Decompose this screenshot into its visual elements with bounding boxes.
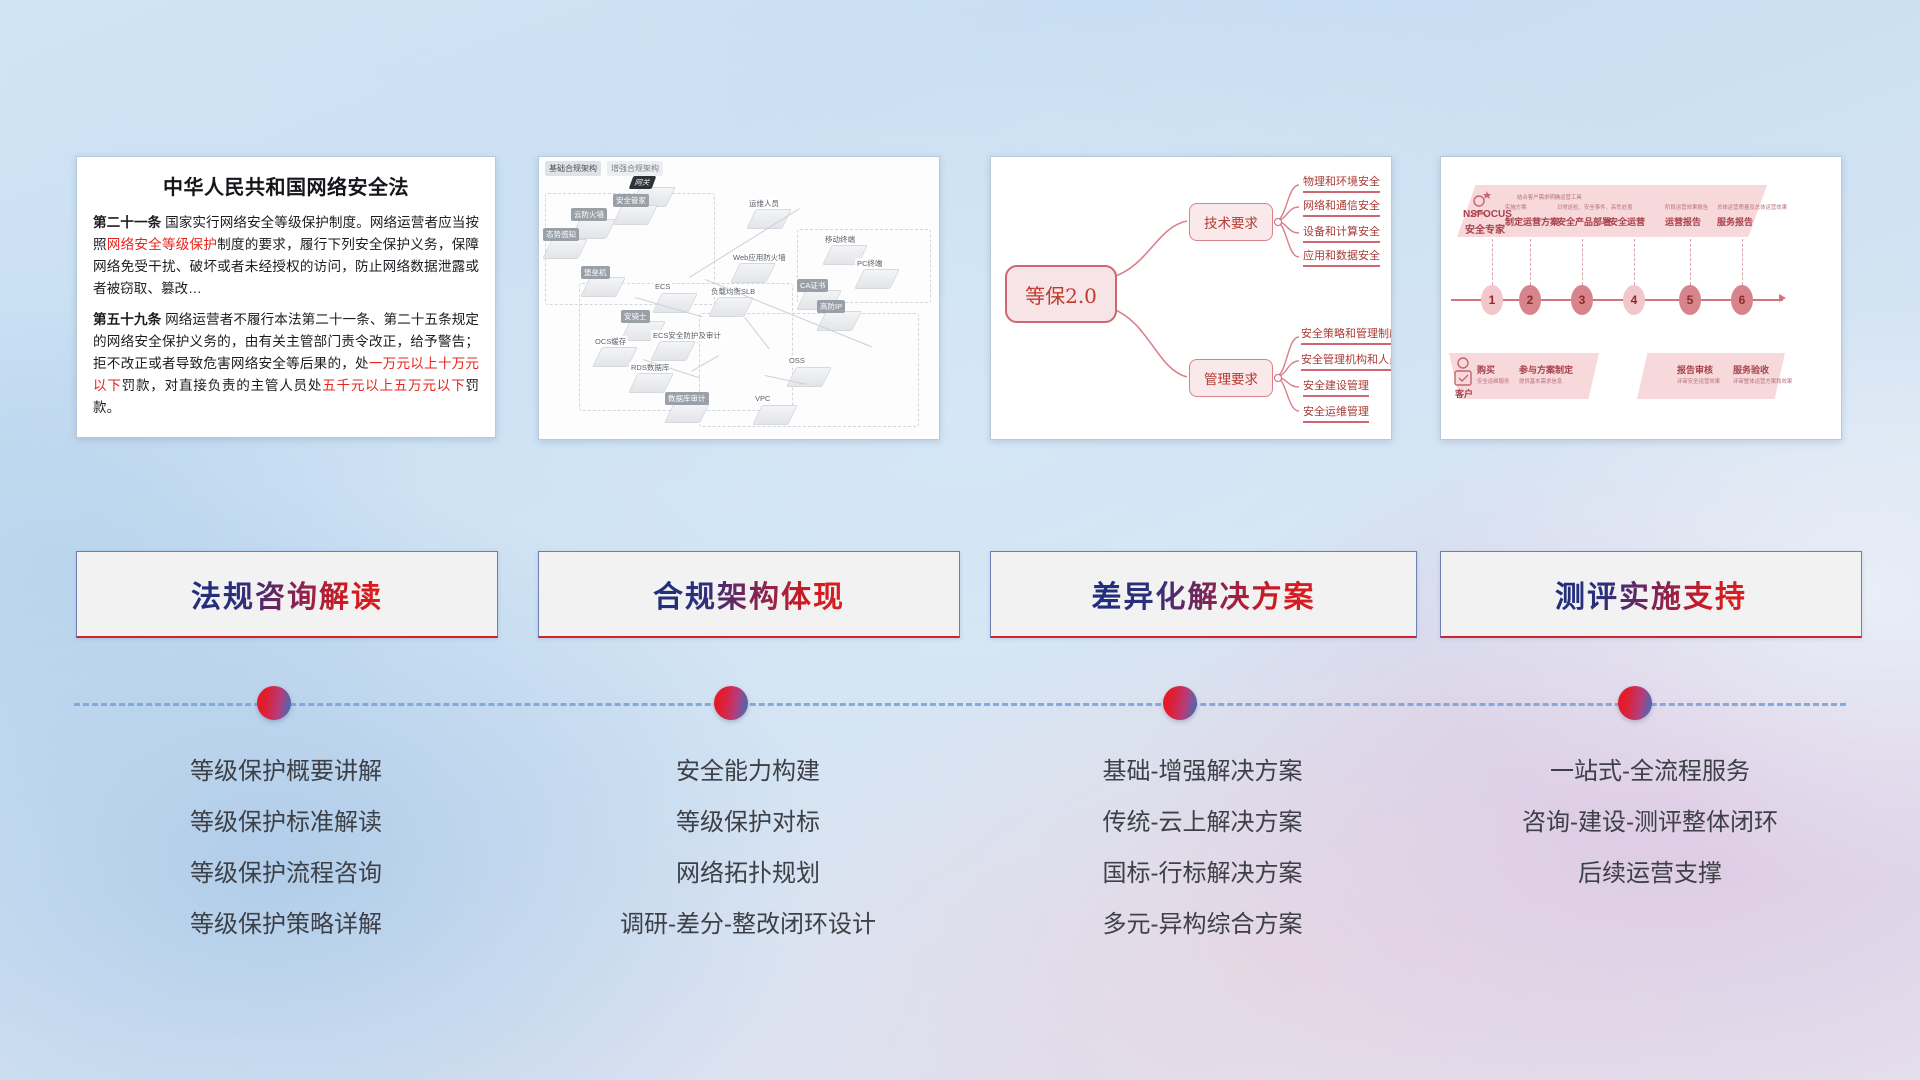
law-paragraph-1: 第二十一条 国家实行网络安全等级保护制度。网络运营者应当按照网络安全等级保护制度… xyxy=(93,212,479,300)
thumbnail-card-mindmap[interactable]: 等保2.0 技术要求 管理要求 物理和环境安全 网络和通信安全 设备和计算安全 … xyxy=(990,156,1392,440)
feature-list-item: 等级保护流程咨询 xyxy=(76,848,496,899)
timeline-customer-step-title: 报告审核 xyxy=(1677,363,1713,376)
law-title: 中华人民共和国网络安全法 xyxy=(93,171,479,200)
law-text-run: 五千元以上五万元以下 xyxy=(322,378,465,393)
timeline-customer-step-title: 参与方案制定 xyxy=(1519,363,1573,376)
architecture-node-shape xyxy=(752,405,798,425)
architecture-node-label: 安全管家 xyxy=(613,194,649,207)
architecture-node-label: 移动终端 xyxy=(823,234,857,245)
feature-list-items: 基础-增强解决方案传统-云上解决方案国标-行标解决方案多元-异构综合方案 xyxy=(990,746,1415,950)
timeline-connector xyxy=(1530,239,1531,285)
timeline-step-sub: 日常巡检、安全事件、高危处置 xyxy=(1557,203,1632,211)
architecture-node-label: 网关 xyxy=(629,176,657,189)
law-text-run: 网络安全等级保护 xyxy=(107,237,217,252)
architecture-node-label: 运维人员 xyxy=(747,198,781,209)
architecture-node[interactable]: PC终端 xyxy=(859,269,895,289)
architecture-node[interactable]: Web应用防火墙 xyxy=(735,263,771,283)
architecture-node[interactable]: 堡垒机 xyxy=(585,277,621,297)
mindmap-root-node[interactable]: 等保2.0 xyxy=(1005,265,1117,323)
thumbnail-card-timeline[interactable]: NSFOCUS 安全专家 结合客户需求明确运营工具 客户 123456 制定运营… xyxy=(1440,156,1842,440)
thumbnail-card-architecture[interactable]: 基础合规架构 增强合规架构 网关安全管家云防火墙态势感知堡垒机运维人员移动终端P… xyxy=(538,156,940,440)
timeline-customer-step-sub: 安全运维服务 xyxy=(1477,377,1509,385)
architecture-node-shape xyxy=(664,403,710,423)
timeline-expert-role: 安全专家 xyxy=(1465,221,1505,236)
architecture-node[interactable]: 安全管家 xyxy=(617,205,653,225)
feature-list-item: 网络拓扑规划 xyxy=(538,848,958,899)
law-text-run: 第二十一条 xyxy=(93,215,165,230)
feature-list-items: 一站式-全流程服务咨询-建设-测评整体闭环后续运营支撑 xyxy=(1440,746,1860,899)
architecture-node-shape xyxy=(612,205,658,225)
feature-list-item: 传统-云上解决方案 xyxy=(990,797,1415,848)
timeline-connector xyxy=(1582,239,1583,285)
mindmap-branch-tech[interactable]: 技术要求 xyxy=(1189,203,1273,241)
timeline-step-sub: 实施方案 xyxy=(1505,203,1527,211)
mindmap-leaf[interactable]: 安全运维管理 xyxy=(1303,403,1369,423)
law-paragraph-2: 第五十九条 网络运营者不履行本法第二十一条、第二十五条规定的网络安全保护义务的，… xyxy=(93,309,479,419)
headline-text: 合规架构体现 xyxy=(653,572,845,616)
architecture-node-label: 堡垒机 xyxy=(581,266,610,279)
timeline-step-title: 安全产品部署 xyxy=(1557,215,1611,228)
mindmap-leaf[interactable]: 网络和通信安全 xyxy=(1303,197,1380,217)
architecture-node-label: OSS xyxy=(787,356,807,365)
timeline-customer-step-sub: 评审安全运营效果 xyxy=(1677,377,1720,385)
feature-list-item: 等级保护标准解读 xyxy=(76,797,496,848)
architecture-node[interactable]: RDS数据库 xyxy=(633,373,669,393)
architecture-node[interactable]: ECS xyxy=(657,293,693,313)
timeline-step-node-5[interactable]: 5 xyxy=(1679,285,1701,315)
milestone-dot-4[interactable] xyxy=(1618,686,1652,720)
headline-box-2[interactable]: 合规架构体现 xyxy=(538,551,960,638)
architecture-node-label: 安骑士 xyxy=(621,310,650,323)
law-text-run: 罚款，对直接负责的主管人员处 xyxy=(122,378,323,393)
timeline-step-title: 运营报告 xyxy=(1665,215,1701,228)
architecture-node[interactable]: 态势感知 xyxy=(547,239,583,259)
architecture-node-label: ECS安全防护及审计 xyxy=(651,330,723,341)
mindmap-branch-mgmt[interactable]: 管理要求 xyxy=(1189,359,1273,397)
timeline-arrow-head xyxy=(1779,294,1786,302)
feature-list-4: 一站式-全流程服务咨询-建设-测评整体闭环后续运营支撑 xyxy=(1440,746,1860,899)
feature-list-item: 后续运营支撑 xyxy=(1440,848,1860,899)
timeline-connector xyxy=(1634,239,1635,285)
headline-box-3[interactable]: 差异化解决方案 xyxy=(990,551,1417,638)
milestone-dot-1[interactable] xyxy=(257,686,291,720)
milestone-dot-3[interactable] xyxy=(1163,686,1197,720)
thumbnail-card-law[interactable]: 中华人民共和国网络安全法 第二十一条 国家实行网络安全等级保护制度。网络运营者应… xyxy=(76,156,496,438)
architecture-node-label: 态势感知 xyxy=(543,228,579,241)
mindmap-leaf[interactable]: 设备和计算安全 xyxy=(1303,223,1380,243)
architecture-node-shape xyxy=(730,263,776,283)
tab-enhanced-compliance[interactable]: 增强合规架构 xyxy=(607,161,663,176)
architecture-node[interactable]: VPC xyxy=(757,405,793,425)
timeline-connector xyxy=(1690,239,1691,285)
feature-list-item: 咨询-建设-测评整体闭环 xyxy=(1440,797,1860,848)
architecture-node[interactable]: 负载均衡SLB xyxy=(713,297,749,317)
timeline-step-node-1[interactable]: 1 xyxy=(1481,285,1503,315)
architecture-node-shape xyxy=(580,277,626,297)
architecture-node[interactable]: ECS安全防护及审计 xyxy=(655,341,691,361)
timeline-customer-role: 客户 xyxy=(1455,387,1473,400)
headline-text: 测评实施支持 xyxy=(1555,572,1747,616)
timeline-connector xyxy=(1492,239,1493,285)
mindmap-leaf[interactable]: 安全管理机构和人员 xyxy=(1301,351,1392,371)
architecture-node-label: PC终端 xyxy=(855,258,884,269)
feature-list-items: 安全能力构建等级保护对标网络拓扑规划调研-差分-整改闭环设计 xyxy=(538,746,958,950)
mindmap-leaf[interactable]: 安全建设管理 xyxy=(1303,377,1369,397)
feature-list-item: 多元-异构综合方案 xyxy=(990,899,1415,950)
feature-list-item: 基础-增强解决方案 xyxy=(990,746,1415,797)
architecture-tabs[interactable]: 基础合规架构 增强合规架构 xyxy=(545,161,663,176)
timeline-step-sub: 阶段运营效果报告 xyxy=(1665,203,1708,211)
timeline-step-title: 服务报告 xyxy=(1717,215,1753,228)
timeline-expert-head-sub: 结合客户需求明确运营工具 xyxy=(1517,193,1582,201)
timeline-step-node-3[interactable]: 3 xyxy=(1571,285,1593,315)
architecture-node-shape xyxy=(786,367,832,387)
tab-basic-compliance[interactable]: 基础合规架构 xyxy=(545,161,601,176)
law-text-run: 第五十九条 xyxy=(93,312,165,327)
timeline-customer-step-title: 购买 xyxy=(1477,363,1495,376)
architecture-canvas: 基础合规架构 增强合规架构 网关安全管家云防火墙态势感知堡垒机运维人员移动终端P… xyxy=(539,157,939,439)
architecture-node-shape xyxy=(650,341,696,361)
feature-list-3: 基础-增强解决方案传统-云上解决方案国标-行标解决方案多元-异构综合方案 xyxy=(990,746,1415,950)
headline-box-1[interactable]: 法规咨询解读 xyxy=(76,551,498,638)
mindmap-leaf[interactable]: 应用和数据安全 xyxy=(1303,247,1380,267)
architecture-node[interactable]: 数据库审计 xyxy=(669,403,705,423)
architecture-node-label: 数据库审计 xyxy=(665,392,709,405)
architecture-node[interactable]: OCS缓存 xyxy=(597,347,633,367)
architecture-node-label: 云防火墙 xyxy=(571,208,607,221)
timeline-customer-step-sub: 提供基本需求信息 xyxy=(1519,377,1562,385)
mindmap-collapse-dot[interactable] xyxy=(1274,218,1282,226)
mindmap-canvas: 等保2.0 技术要求 管理要求 物理和环境安全 网络和通信安全 设备和计算安全 … xyxy=(991,157,1391,439)
feature-list-item: 一站式-全流程服务 xyxy=(1440,746,1860,797)
timeline-connector xyxy=(1742,239,1743,285)
mindmap-leaf[interactable]: 安全策略和管理制度 xyxy=(1301,325,1392,345)
headline-text: 差异化解决方案 xyxy=(1092,572,1316,616)
architecture-node-label: 高防IP xyxy=(817,300,845,313)
feature-list-2: 安全能力构建等级保护对标网络拓扑规划调研-差分-整改闭环设计 xyxy=(538,746,958,950)
timeline-step-node-2[interactable]: 2 xyxy=(1519,285,1541,315)
architecture-node-shape xyxy=(628,373,674,393)
architecture-node-shape xyxy=(854,269,900,289)
mindmap-collapse-dot[interactable] xyxy=(1274,374,1282,382)
feature-list-item: 调研-差分-整改闭环设计 xyxy=(538,899,958,950)
timeline-step-sub: 总体运营质量及总体运营效果 xyxy=(1717,203,1787,211)
slide-stage: 中华人民共和国网络安全法 第二十一条 国家实行网络安全等级保护制度。网络运营者应… xyxy=(0,0,1920,1080)
architecture-node-label: Web应用防火墙 xyxy=(731,252,788,263)
timeline-step-title: 安全运营 xyxy=(1609,215,1645,228)
architecture-node-shape xyxy=(542,239,588,259)
architecture-node-label: ECS xyxy=(653,282,672,291)
timeline-customer-step-sub: 评审整体运营方案和效果 xyxy=(1733,377,1792,385)
timeline-step-node-6[interactable]: 6 xyxy=(1731,285,1753,315)
timeline-step-title: 制定运营方案 xyxy=(1505,215,1559,228)
mindmap-leaf[interactable]: 物理和环境安全 xyxy=(1303,173,1380,193)
feature-list-item: 等级保护概要讲解 xyxy=(76,746,496,797)
architecture-node-shape xyxy=(708,297,754,317)
architecture-node[interactable]: OSS xyxy=(791,367,827,387)
feature-list-items: 等级保护概要讲解等级保护标准解读等级保护流程咨询等级保护策略详解 xyxy=(76,746,496,950)
timeline-rail xyxy=(74,703,1846,706)
architecture-node-label: VPC xyxy=(753,394,772,403)
headline-text: 法规咨询解读 xyxy=(191,572,383,616)
architecture-node[interactable]: 云防火墙 xyxy=(575,219,611,239)
timeline-canvas: NSFOCUS 安全专家 结合客户需求明确运营工具 客户 123456 制定运营… xyxy=(1441,157,1841,439)
feature-list-item: 等级保护策略详解 xyxy=(76,899,496,950)
feature-list-item: 国标-行标解决方案 xyxy=(990,848,1415,899)
feature-list-item: 安全能力构建 xyxy=(538,746,958,797)
timeline-step-node-4[interactable]: 4 xyxy=(1623,285,1645,315)
feature-list-item: 等级保护对标 xyxy=(538,797,958,848)
feature-list-1: 等级保护概要讲解等级保护标准解读等级保护流程咨询等级保护策略详解 xyxy=(76,746,496,950)
headline-box-4[interactable]: 测评实施支持 xyxy=(1440,551,1862,638)
architecture-node-label: OCS缓存 xyxy=(593,336,628,347)
milestone-dot-2[interactable] xyxy=(714,686,748,720)
timeline-customer-step-title: 服务验收 xyxy=(1733,363,1769,376)
architecture-node-label: CA证书 xyxy=(797,279,828,292)
